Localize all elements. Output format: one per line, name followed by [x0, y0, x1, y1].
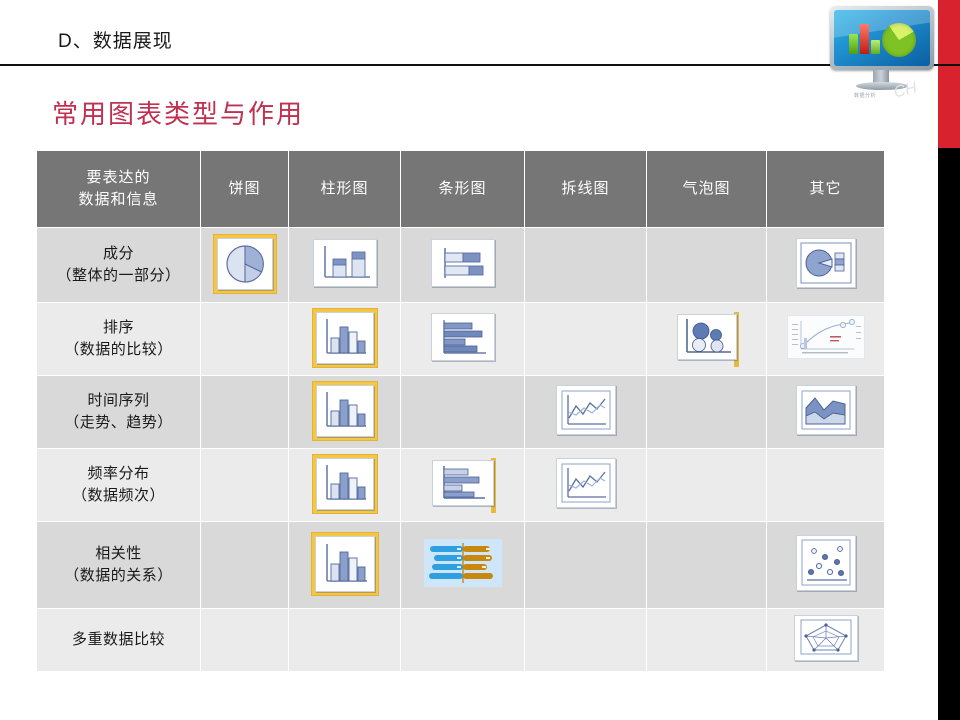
right-edge-black-bar [938, 148, 960, 720]
bar-chart-icon-selected-edge[interactable] [430, 458, 496, 513]
section-label: D、数据展现 [58, 26, 173, 53]
column-chart-icon [317, 459, 373, 509]
tornado-bar-chart-icon[interactable] [424, 539, 502, 587]
column-header-bubble: 气泡图 [647, 151, 767, 228]
column-chart-icon-selected[interactable] [313, 382, 377, 440]
row-label-correlation: 相关性 （数据的关系） [37, 522, 201, 609]
cell-ranking-pie [201, 303, 289, 376]
cell-composition-other[interactable] [767, 228, 885, 303]
cell-ranking-column[interactable] [289, 303, 401, 376]
screen-bar-3-icon [871, 40, 880, 54]
row-label-timeseries: 时间序列 （走势、趋势） [37, 376, 201, 449]
cell-frequency-bar[interactable] [401, 449, 525, 522]
bar-chart-icon[interactable] [431, 313, 495, 361]
cell-composition-line [525, 228, 647, 303]
bar-chart-icon[interactable] [431, 239, 495, 287]
column-chart-icon [317, 313, 373, 363]
column-header-other: 其它 [767, 151, 885, 228]
cell-correlation-bar[interactable] [401, 522, 525, 609]
pareto-curve-chart-icon[interactable] [787, 315, 865, 359]
logo-watermark: CH [892, 79, 919, 102]
column-header-bar: 条形图 [401, 151, 525, 228]
row-label-line1: 时间序列 [87, 392, 149, 409]
cell-correlation-column[interactable] [289, 522, 401, 609]
pie-chart-icon [218, 239, 272, 289]
cell-composition-bubble [647, 228, 767, 303]
cell-timeseries-bubble [647, 376, 767, 449]
cell-ranking-other[interactable] [767, 303, 885, 376]
row-label-line2: （数据的比较） [64, 341, 173, 358]
column-header-column: 柱形图 [289, 151, 401, 228]
cell-timeseries-bar [401, 376, 525, 449]
column-chart-icon-selected[interactable] [313, 309, 377, 367]
row-label-line2: （数据的关系） [64, 567, 173, 584]
bubble-chart-icon-selected-edge[interactable] [675, 312, 739, 367]
cell-multivariate-column [289, 609, 401, 672]
header-divider [0, 64, 960, 66]
cell-composition-pie[interactable] [201, 228, 289, 303]
cell-multivariate-pie [201, 609, 289, 672]
table-row: 时间序列 （走势、趋势） [37, 376, 885, 449]
scatter-chart-icon[interactable] [796, 535, 856, 591]
row-label-line2: （走势、趋势） [64, 414, 173, 431]
column-header-pie: 饼图 [201, 151, 289, 228]
column-header-info-line1: 要表达的 [86, 169, 150, 186]
column-header-info-line2: 数据和信息 [78, 191, 158, 208]
monitor-body-icon [830, 6, 934, 70]
screen-bar-1-icon [849, 34, 858, 54]
column-header-info: 要表达的 数据和信息 [37, 151, 201, 228]
cell-composition-bar[interactable] [401, 228, 525, 303]
row-label-line2: （数据频次） [72, 487, 165, 504]
cell-multivariate-other[interactable] [767, 609, 885, 672]
cell-frequency-line[interactable] [525, 449, 647, 522]
bubble-chart-icon [678, 315, 736, 359]
column-chart-icon [316, 537, 374, 591]
row-label-composition: 成分 （整体的一部分） [37, 228, 201, 303]
table-header-row: 要表达的 数据和信息 饼图 柱形图 条形图 拆线图 气泡图 其它 [37, 151, 885, 228]
radar-chart-icon[interactable] [794, 615, 858, 661]
screen-pie-icon [882, 23, 916, 57]
column-chart-icon-selected[interactable] [313, 455, 377, 513]
column-chart-icon [317, 386, 373, 436]
column-chart-icon-selected[interactable] [312, 533, 378, 595]
cell-correlation-other[interactable] [767, 522, 885, 609]
cell-frequency-bubble [647, 449, 767, 522]
row-label-line2: （整体的一部分） [56, 267, 180, 284]
table-row: 排序 （数据的比较） [37, 303, 885, 376]
cell-multivariate-bubble [647, 609, 767, 672]
cell-timeseries-other[interactable] [767, 376, 885, 449]
logo-caption: 数据分析 [854, 92, 876, 99]
screen-bar-2-icon [860, 24, 869, 54]
cell-frequency-other [767, 449, 885, 522]
pie-chart-icon-selected[interactable] [214, 235, 276, 293]
cell-frequency-column[interactable] [289, 449, 401, 522]
row-label-line1: 成分 [103, 245, 134, 262]
cell-frequency-pie [201, 449, 289, 522]
bar-of-pie-chart-icon[interactable] [796, 238, 856, 288]
cell-timeseries-line[interactable] [525, 376, 647, 449]
page-title: 常用图表类型与作用 [52, 94, 304, 131]
cell-timeseries-column[interactable] [289, 376, 401, 449]
row-label-multivariate: 多重数据比较 [37, 609, 201, 672]
cell-composition-column[interactable] [289, 228, 401, 303]
table-row: 频率分布 （数据频次） [37, 449, 885, 522]
row-label-line1: 相关性 [95, 545, 142, 562]
row-label-line1: 多重数据比较 [72, 631, 165, 648]
monitor-logo: 数据分析 CH [828, 4, 940, 108]
cell-correlation-line [525, 522, 647, 609]
table-row: 成分 （整体的一部分） [37, 228, 885, 303]
cell-multivariate-bar [401, 609, 525, 672]
column-header-line: 拆线图 [525, 151, 647, 228]
line-chart-icon[interactable] [556, 458, 616, 508]
row-label-frequency: 频率分布 （数据频次） [37, 449, 201, 522]
table-row: 多重数据比较 [37, 609, 885, 672]
cell-ranking-line [525, 303, 647, 376]
cell-correlation-bubble [647, 522, 767, 609]
area-chart-icon[interactable] [796, 385, 856, 435]
bar-chart-icon [433, 461, 493, 505]
column-chart-icon[interactable] [313, 239, 377, 287]
row-label-line1: 频率分布 [87, 465, 149, 482]
line-chart-icon[interactable] [556, 385, 616, 435]
cell-multivariate-line [525, 609, 647, 672]
right-edge-red-bar [938, 0, 960, 148]
cell-timeseries-pie [201, 376, 289, 449]
cell-correlation-pie [201, 522, 289, 609]
cell-ranking-bar[interactable] [401, 303, 525, 376]
row-label-ranking: 排序 （数据的比较） [37, 303, 201, 376]
monitor-screen-icon [834, 10, 930, 66]
table-row: 相关性 （数据的关系） [37, 522, 885, 609]
chart-type-matrix: 要表达的 数据和信息 饼图 柱形图 条形图 拆线图 气泡图 其它 成分 （整体的… [36, 150, 885, 672]
row-label-line1: 排序 [103, 319, 134, 336]
slide-canvas: D、数据展现 常用图表类型与作用 数据分析 CH 要表达的 数据 [0, 0, 960, 720]
cell-ranking-bubble[interactable] [647, 303, 767, 376]
